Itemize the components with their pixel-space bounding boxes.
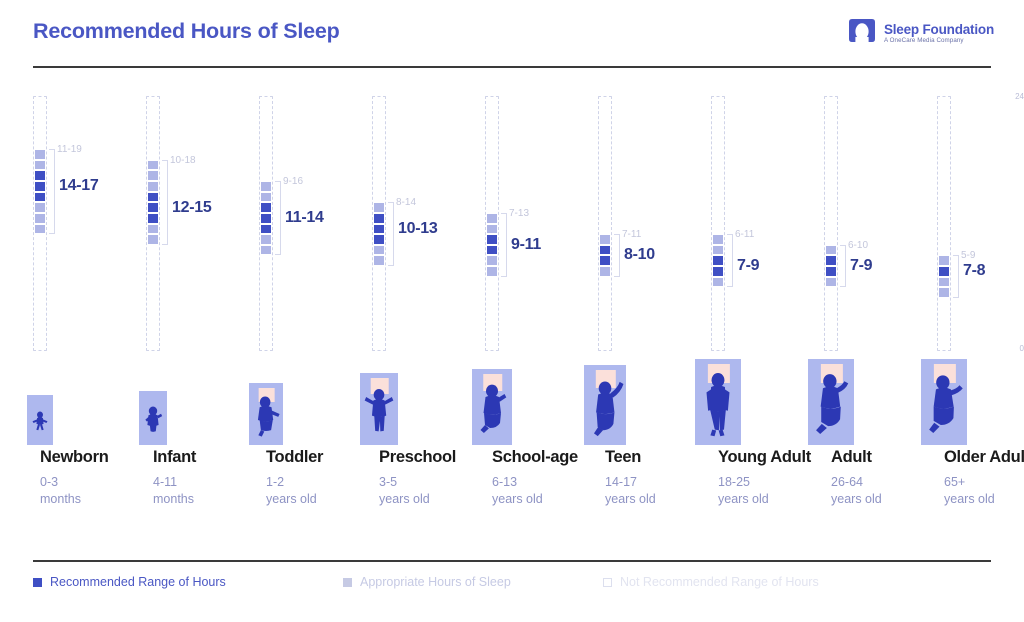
appropriate-hour-block	[147, 181, 159, 192]
appropriate-range-label: 7-11	[622, 229, 641, 240]
legend-label: Recommended Range of Hours	[50, 575, 226, 589]
legend-item: Recommended Range of Hours	[33, 575, 226, 589]
sleep-hours-chart: 24 0 11-1914-1710-1812-159-1611-148-1410…	[0, 86, 1024, 361]
recommended-range-label: 10-13	[398, 220, 437, 238]
school-age-child-sleeping-icon	[472, 369, 512, 445]
recommended-range-label: 7-8	[963, 262, 985, 280]
older-adult-sleeping-icon	[921, 359, 967, 445]
divider-bottom	[33, 560, 991, 562]
appropriate-hour-block	[34, 149, 46, 160]
appropriate-range-bracket	[275, 181, 281, 255]
age-group-label: Teen14-17years old	[605, 448, 710, 507]
appropriate-hour-block	[712, 277, 724, 288]
age-group-labels: Newborn0-3monthsInfant4-11monthsToddler1…	[0, 448, 1024, 553]
age-group-range: 1-2years old	[266, 474, 371, 507]
not-recommended-range-track	[937, 96, 951, 351]
sleeper-figure-card	[139, 391, 167, 445]
age-group-label: Toddler1-2years old	[266, 448, 371, 507]
age-group-label: Preschool3-5years old	[379, 448, 484, 507]
appropriate-range-label: 8-14	[396, 197, 416, 208]
appropriate-hour-block	[599, 234, 611, 245]
logo-tagline: A OneCare Media Company	[884, 38, 994, 44]
hour-blocks	[260, 181, 272, 255]
not-recommended-range-track	[824, 96, 838, 351]
appropriate-hour-block	[260, 245, 272, 256]
recommended-hour-block	[147, 202, 159, 213]
appropriate-hour-block	[599, 266, 611, 277]
sleeper-figure-card	[808, 359, 854, 445]
age-group-range: 18-25years old	[718, 474, 818, 507]
hour-blocks	[486, 213, 498, 277]
sleeper-figure-card	[695, 359, 741, 445]
age-group-name: Newborn	[40, 448, 145, 467]
appropriate-hour-block	[486, 255, 498, 266]
logo-name: Sleep Foundation	[884, 23, 994, 37]
page-title: Recommended Hours of Sleep	[33, 19, 340, 44]
age-group-range: 6-13years old	[492, 474, 592, 507]
recommended-range-label: 14-17	[59, 177, 98, 195]
chart-legend: Recommended Range of HoursAppropriate Ho…	[33, 575, 991, 597]
legend-item: Appropriate Hours of Sleep	[343, 575, 511, 589]
age-group-name: Older Adult	[944, 448, 1024, 467]
appropriate-hour-block	[147, 170, 159, 181]
age-group-name: Toddler	[266, 448, 371, 467]
appropriate-hour-block	[712, 234, 724, 245]
legend-swatch-icon	[603, 578, 612, 587]
age-group-range: 3-5years old	[379, 474, 484, 507]
hour-blocks	[825, 245, 837, 288]
appropriate-hour-block	[260, 192, 272, 203]
hour-blocks	[712, 234, 724, 287]
age-group-range: 0-3months	[40, 474, 145, 507]
appropriate-hour-block	[147, 234, 159, 245]
appropriate-range-bracket	[162, 160, 168, 245]
age-group-range: 14-17years old	[605, 474, 710, 507]
sleeper-figure-card	[249, 383, 283, 445]
sleep-pillow-logo-icon	[847, 18, 877, 49]
recommended-hour-block	[34, 192, 46, 203]
recommended-hour-block	[486, 245, 498, 256]
appropriate-range-label: 9-16	[283, 176, 303, 187]
appropriate-range-label: 11-19	[57, 144, 82, 155]
appropriate-hour-block	[373, 245, 385, 256]
recommended-hour-block	[373, 234, 385, 245]
age-group-label: Young Adult18-25years old	[718, 448, 818, 507]
infant-sleeping-icon	[139, 391, 167, 445]
appropriate-hour-block	[712, 245, 724, 256]
appropriate-range-bracket	[501, 213, 507, 277]
age-group-name: Adult	[831, 448, 936, 467]
appropriate-range-bracket	[388, 202, 394, 266]
age-group-label: Adult26-64years old	[831, 448, 936, 507]
sleeper-figure-card	[472, 369, 512, 445]
recommended-hour-block	[34, 181, 46, 192]
recommended-hour-block	[34, 170, 46, 181]
appropriate-hour-block	[825, 245, 837, 256]
preschooler-sleeping-icon	[360, 373, 398, 445]
adult-sleeping-icon	[808, 359, 854, 445]
appropriate-hour-block	[373, 202, 385, 213]
age-group-name: Infant	[153, 448, 258, 467]
appropriate-hour-block	[486, 224, 498, 235]
recommended-hour-block	[825, 255, 837, 266]
recommended-hour-block	[712, 255, 724, 266]
header: Recommended Hours of Sleep Sleep Foundat…	[0, 0, 1024, 68]
recommended-hour-block	[938, 266, 950, 277]
recommended-hour-block	[373, 224, 385, 235]
appropriate-range-bracket	[840, 245, 846, 288]
appropriate-hour-block	[34, 213, 46, 224]
recommended-hour-block	[825, 266, 837, 277]
legend-swatch-icon	[343, 578, 352, 587]
appropriate-range-label: 6-10	[848, 240, 868, 251]
logo-text: Sleep Foundation A OneCare Media Company	[884, 23, 994, 45]
appropriate-range-bracket	[953, 255, 959, 298]
appropriate-range-label: 7-13	[509, 208, 529, 219]
appropriate-range-bracket	[49, 149, 55, 234]
appropriate-hour-block	[938, 287, 950, 298]
legend-label: Appropriate Hours of Sleep	[360, 575, 511, 589]
appropriate-hour-block	[486, 266, 498, 277]
appropriate-hour-block	[147, 160, 159, 171]
legend-item: Not Recommended Range of Hours	[603, 575, 819, 589]
recommended-range-label: 9-11	[511, 236, 541, 254]
recommended-hour-block	[147, 213, 159, 224]
recommended-hour-block	[260, 213, 272, 224]
not-recommended-range-track	[711, 96, 725, 351]
newborn-sleeping-icon	[27, 395, 53, 445]
appropriate-hour-block	[938, 255, 950, 266]
young-adult-sleeping-icon	[695, 359, 741, 445]
age-group-name: Teen	[605, 448, 710, 467]
hour-blocks	[599, 234, 611, 277]
age-group-label: Infant4-11months	[153, 448, 258, 507]
hour-blocks	[34, 149, 46, 234]
brand-logo[interactable]: Sleep Foundation A OneCare Media Company	[847, 18, 994, 49]
recommended-hour-block	[599, 255, 611, 266]
legend-label: Not Recommended Range of Hours	[620, 575, 819, 589]
appropriate-range-label: 5-9	[961, 250, 975, 261]
hour-blocks	[373, 202, 385, 266]
recommended-range-label: 7-9	[737, 257, 759, 275]
appropriate-range-label: 6-11	[735, 229, 754, 240]
not-recommended-range-track	[598, 96, 612, 351]
age-group-label: Newborn0-3months	[40, 448, 145, 507]
recommended-hour-block	[712, 266, 724, 277]
recommended-range-label: 8-10	[624, 246, 655, 264]
appropriate-hour-block	[373, 255, 385, 266]
appropriate-hour-block	[34, 224, 46, 235]
appropriate-range-bracket	[614, 234, 620, 277]
hour-blocks	[938, 255, 950, 298]
recommended-hour-block	[599, 245, 611, 256]
recommended-range-label: 12-15	[172, 199, 211, 217]
age-group-name: Preschool	[379, 448, 484, 467]
age-group-range: 4-11months	[153, 474, 258, 507]
recommended-range-label: 11-14	[285, 209, 324, 227]
age-group-range: 65+years old	[944, 474, 1024, 507]
appropriate-hour-block	[34, 202, 46, 213]
recommended-hour-block	[486, 234, 498, 245]
sleeper-figure-card	[360, 373, 398, 445]
recommended-hour-block	[260, 202, 272, 213]
age-group-name: School-age	[492, 448, 592, 467]
age-group-label: School-age6-13years old	[492, 448, 592, 507]
hour-blocks	[147, 160, 159, 245]
y-axis-tick-min: 0	[26, 344, 1024, 353]
recommended-hour-block	[147, 192, 159, 203]
appropriate-hour-block	[825, 277, 837, 288]
age-group-name: Young Adult	[718, 448, 818, 467]
appropriate-hour-block	[147, 224, 159, 235]
legend-swatch-icon	[33, 578, 42, 587]
appropriate-hour-block	[260, 181, 272, 192]
appropriate-range-label: 10-18	[170, 155, 196, 166]
y-axis-tick-max: 24	[20, 92, 1024, 101]
teen-sleeping-icon	[584, 365, 626, 445]
age-group-range: 26-64years old	[831, 474, 936, 507]
appropriate-hour-block	[260, 234, 272, 245]
appropriate-hour-block	[486, 213, 498, 224]
sleeper-figures	[0, 355, 1024, 445]
divider-top	[33, 66, 991, 68]
recommended-range-label: 7-9	[850, 257, 872, 275]
recommended-hour-block	[373, 213, 385, 224]
appropriate-hour-block	[938, 277, 950, 288]
sleeper-figure-card	[921, 359, 967, 445]
toddler-sleeping-icon	[249, 383, 283, 445]
age-group-label: Older Adult65+years old	[944, 448, 1024, 507]
appropriate-hour-block	[34, 160, 46, 171]
sleeper-figure-card	[584, 365, 626, 445]
appropriate-range-bracket	[727, 234, 733, 287]
recommended-hour-block	[260, 224, 272, 235]
sleeper-figure-card	[27, 395, 53, 445]
